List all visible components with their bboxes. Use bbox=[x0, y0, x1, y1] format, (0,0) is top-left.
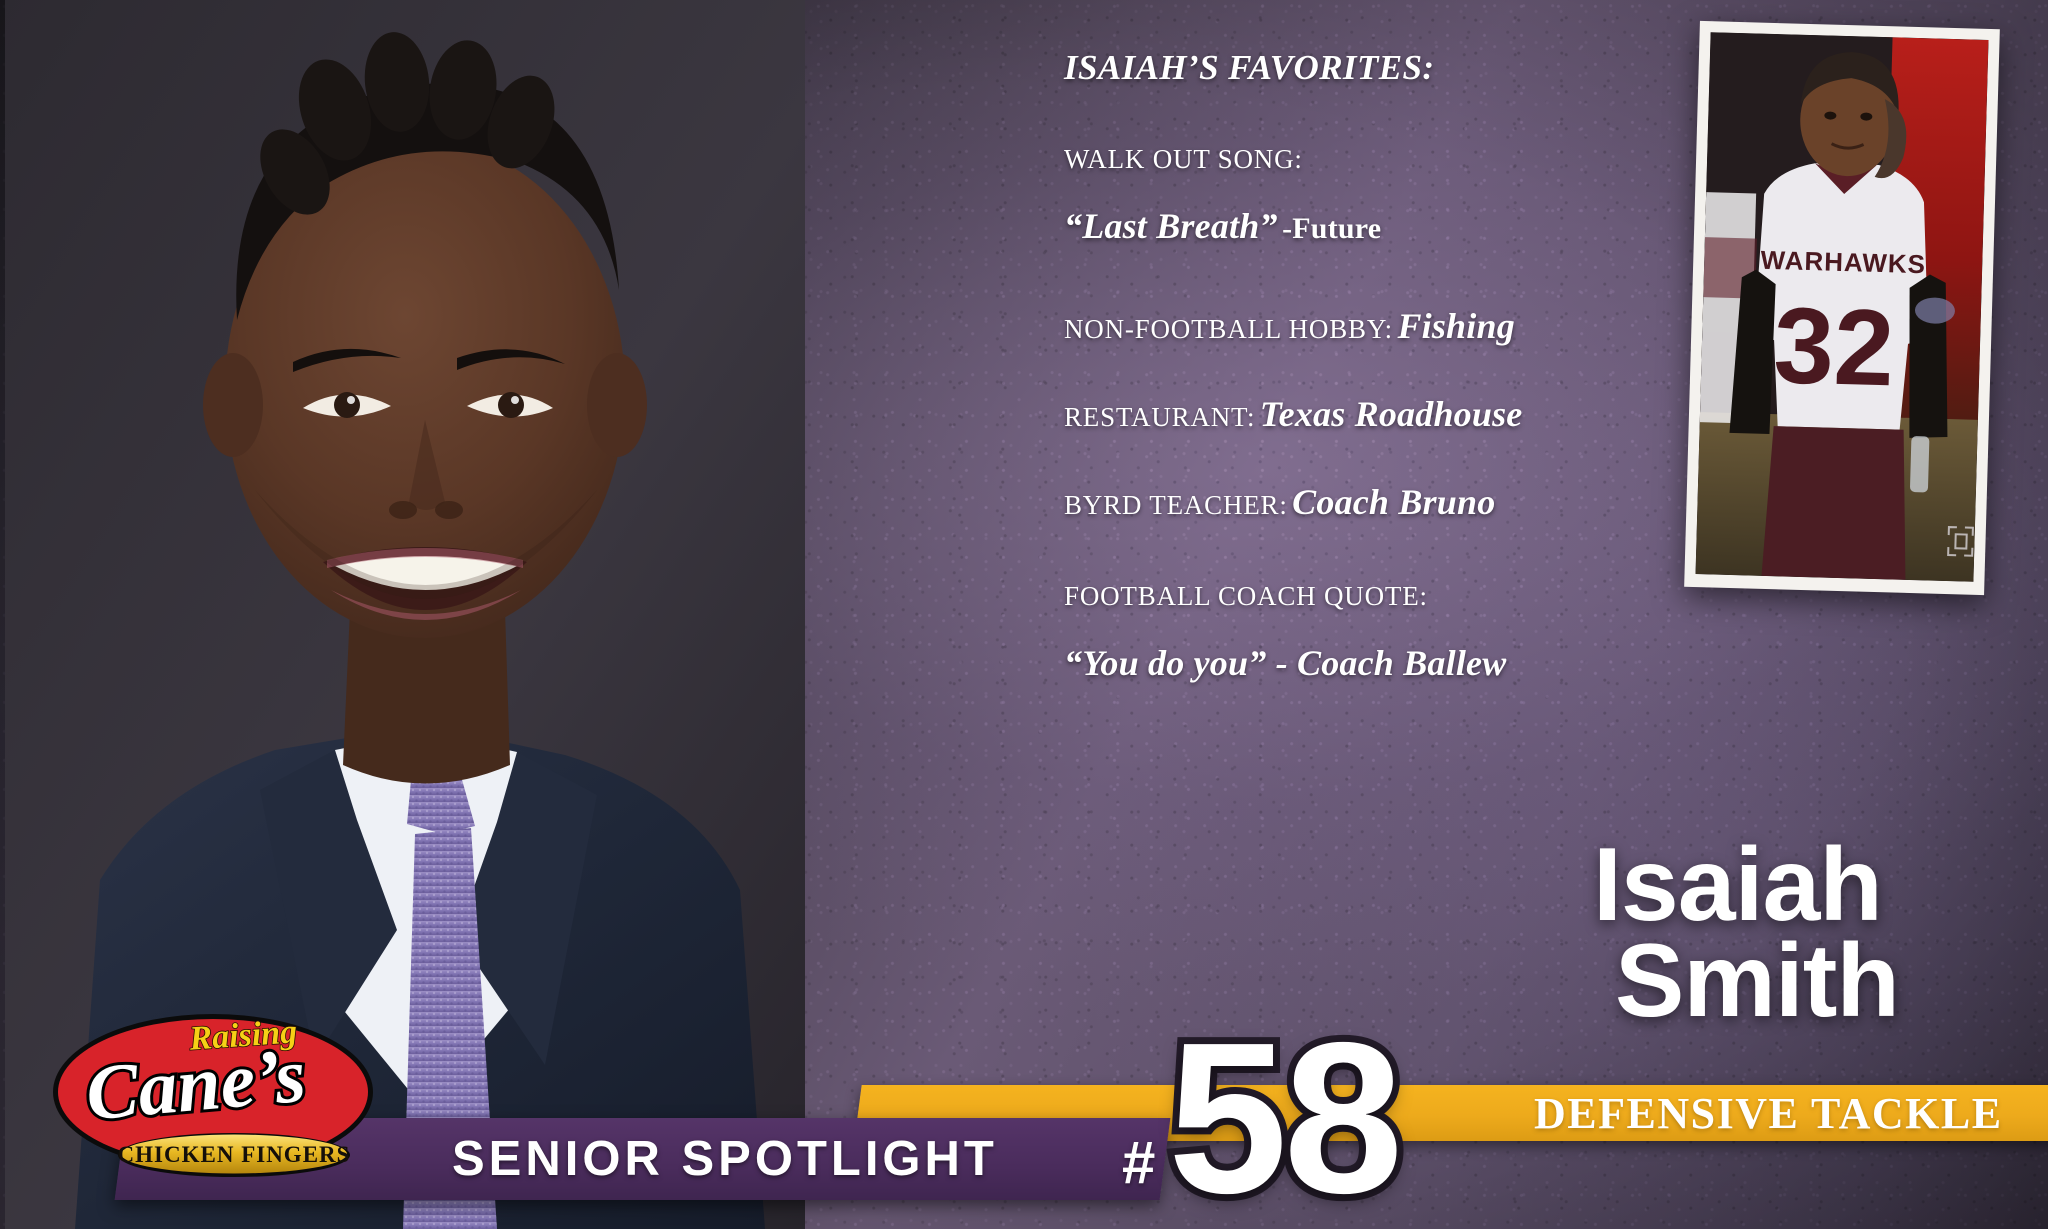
favorite-value: Fishing bbox=[1397, 306, 1514, 346]
favorite-row-quote-value: “You do you” - Coach Ballew bbox=[1064, 642, 1684, 684]
favorite-label: NON-FOOTBALL HOBBY: bbox=[1064, 314, 1393, 344]
favorite-value: “Last Breath” bbox=[1064, 206, 1278, 246]
favorite-label: RESTAURANT: bbox=[1064, 402, 1255, 432]
favorite-label: BYRD TEACHER: bbox=[1064, 490, 1288, 520]
favorite-value: “You do you” - Coach Ballew bbox=[1064, 643, 1506, 683]
player-last-name: Smith bbox=[1615, 934, 1899, 1030]
jersey-number: 58 bbox=[1168, 1010, 1399, 1225]
senior-spotlight-label: SENIOR SPOTLIGHT bbox=[452, 1122, 998, 1196]
favorite-row-quote-label: FOOTBALL COACH QUOTE: bbox=[1064, 581, 1684, 612]
svg-text:WARHAWKS: WARHAWKS bbox=[1760, 245, 1926, 280]
favorite-label: FOOTBALL COACH QUOTE: bbox=[1064, 581, 1428, 611]
favorites-title: ISAIAH’S FAVORITES: bbox=[1064, 48, 1684, 88]
player-name: Isaiah Smith bbox=[1593, 838, 1899, 1029]
favorite-row-hobby: NON-FOOTBALL HOBBY: Fishing bbox=[1064, 305, 1684, 347]
svg-text:32: 32 bbox=[1772, 284, 1895, 408]
favorites-block: ISAIAH’S FAVORITES: WALK OUT SONG: “Last… bbox=[1064, 48, 1684, 700]
favorite-row-restaurant: RESTAURANT: Texas Roadhouse bbox=[1064, 393, 1684, 435]
favorite-value: Texas Roadhouse bbox=[1260, 394, 1523, 434]
inset-photo-polaroid: WARHAWKS 32 bbox=[1684, 21, 2000, 595]
favorite-row-walkout-label: WALK OUT SONG: bbox=[1064, 144, 1684, 175]
senior-spotlight-graphic: C.E.BYRD YELLOW JACKETS bbox=[0, 0, 2048, 1229]
favorite-value: Coach Bruno bbox=[1292, 482, 1495, 522]
hash-symbol: # bbox=[1122, 1128, 1155, 1197]
favorite-label: WALK OUT SONG: bbox=[1064, 144, 1303, 174]
sponsor-line3-text: CHICKEN FINGERS bbox=[118, 1142, 351, 1167]
sponsor-logo-raising-canes: Raising Cane’s CHICKEN FINGERS bbox=[48, 992, 378, 1202]
favorite-value-suffix: -Future bbox=[1282, 212, 1381, 245]
inset-photo: WARHAWKS 32 bbox=[1696, 32, 1989, 582]
player-position: DEFENSIVE TACKLE bbox=[1534, 1090, 2048, 1136]
favorite-row-walkout-value: “Last Breath” -Future bbox=[1064, 205, 1684, 247]
favorite-row-teacher: BYRD TEACHER: Coach Bruno bbox=[1064, 481, 1684, 523]
